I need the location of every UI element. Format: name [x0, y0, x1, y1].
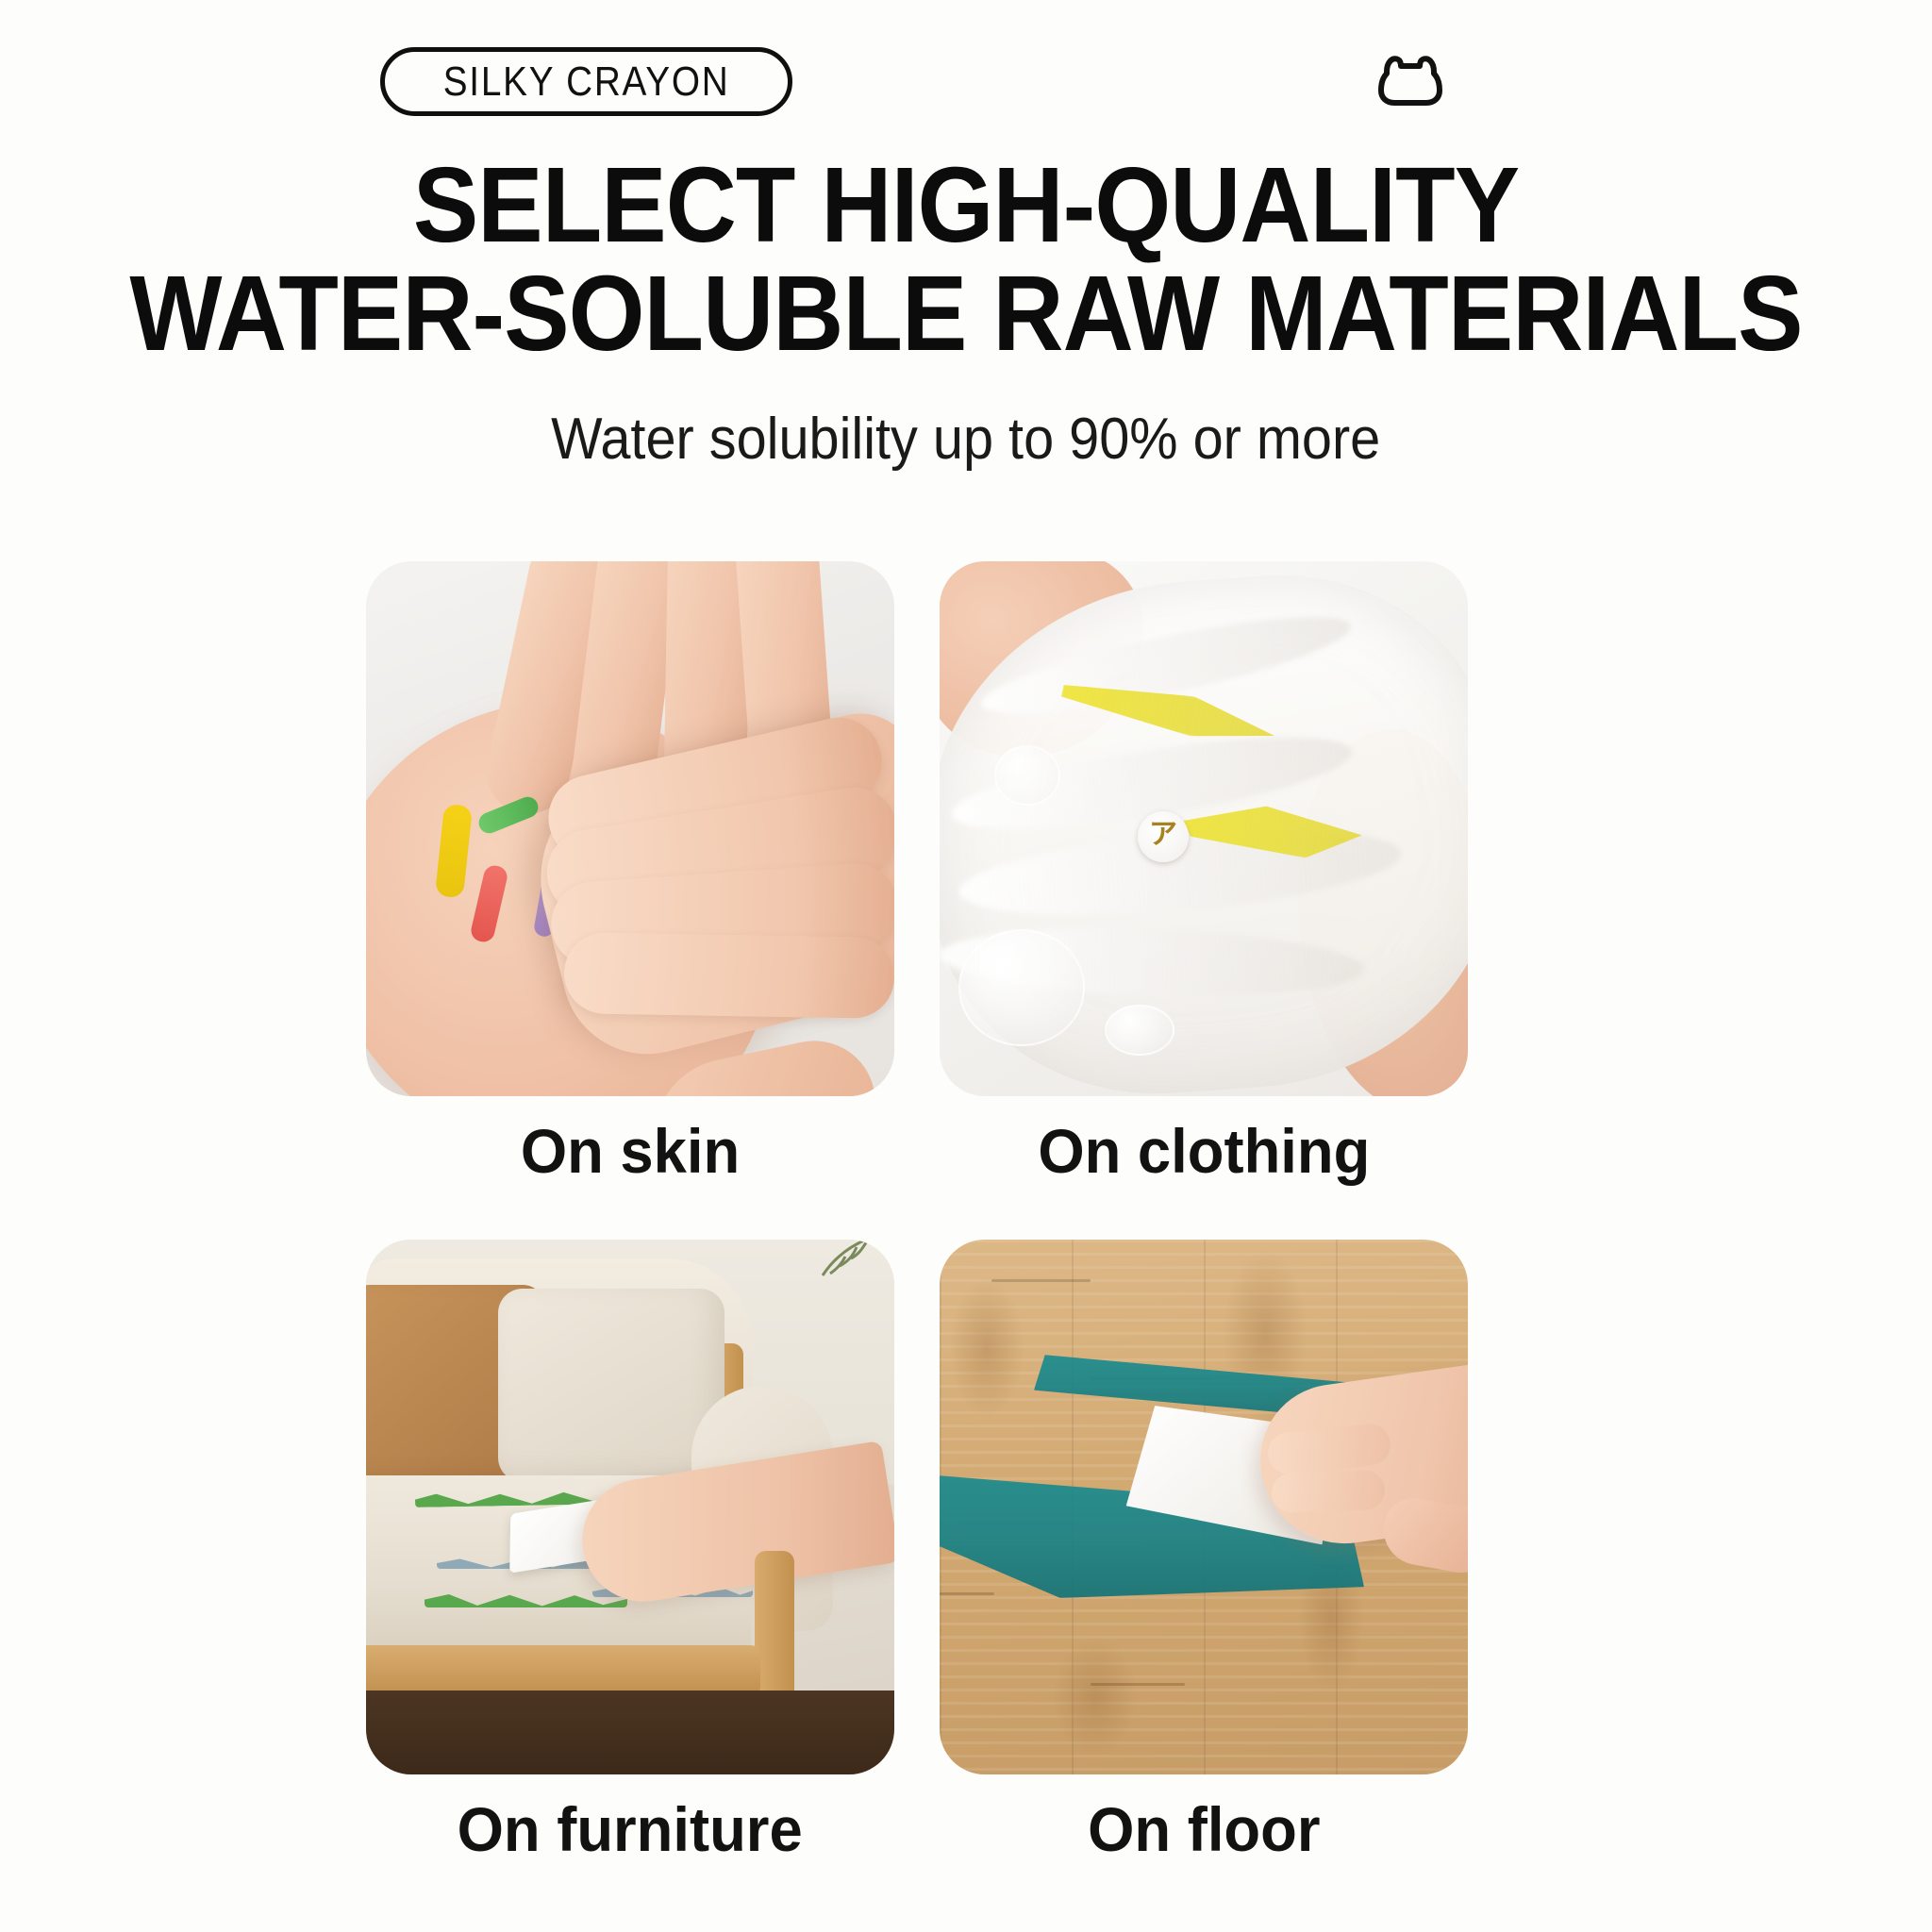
feature-image-on-skin [366, 561, 894, 1096]
feature-item-on-skin[interactable]: On skin [366, 561, 894, 1240]
water-bubble [1105, 1005, 1174, 1056]
feature-caption-text: On skin [521, 1117, 740, 1186]
button-glyph: ア [1149, 821, 1177, 849]
page-header: SILKY CRAYON [0, 23, 1932, 117]
plant-decor [764, 1240, 877, 1319]
feature-item-on-clothing[interactable]: ア On clothing [940, 561, 1468, 1240]
feature-caption: On clothing [940, 1117, 1468, 1240]
page-title-line-2: WATER-SOLUBLE RAW MATERIALS [77, 259, 1855, 368]
water-bubble [994, 745, 1060, 806]
finger-shape [563, 932, 894, 1019]
wood-grain [1053, 1636, 1138, 1758]
feature-caption-text: On floor [1088, 1795, 1320, 1864]
water-bubble [958, 929, 1085, 1046]
plank-seam [991, 1279, 1091, 1282]
bear-head-icon [1368, 51, 1453, 109]
sofa-wood-rail [366, 1645, 760, 1696]
brand-badge: SILKY CRAYON [380, 47, 792, 116]
page-title: SELECT HIGH-QUALITY WATER-SOLUBLE RAW MA… [0, 151, 1932, 369]
feature-grid: On skin ア On clothing [366, 561, 1468, 1918]
plank-seam [940, 1592, 994, 1595]
feature-image-on-clothing: ア [940, 561, 1468, 1096]
feature-caption-text: On furniture [458, 1795, 803, 1864]
floor-shadow [366, 1690, 894, 1774]
feature-item-on-floor[interactable]: On floor [940, 1240, 1468, 1918]
feature-image-on-furniture [366, 1240, 894, 1774]
feature-caption: On floor [940, 1795, 1468, 1918]
garment-button: ア [1138, 811, 1189, 862]
feature-item-on-furniture[interactable]: On furniture [366, 1240, 894, 1918]
wood-grain [949, 1277, 1024, 1419]
page-subtitle: Water solubility up to 90% or more [0, 406, 1932, 473]
finger-shape [1271, 1470, 1385, 1513]
feature-caption-text: On clothing [1038, 1117, 1370, 1186]
feature-caption: On furniture [366, 1795, 894, 1918]
feature-image-on-floor [940, 1240, 1468, 1774]
pillow-cream [498, 1289, 724, 1482]
brand-badge-label: SILKY CRAYON [443, 58, 730, 106]
plank-seam [1091, 1683, 1185, 1686]
page-title-line-1: SELECT HIGH-QUALITY [77, 151, 1855, 259]
feature-caption: On skin [366, 1117, 894, 1240]
page-subtitle-text: Water solubility up to 90% or more [551, 406, 1380, 473]
